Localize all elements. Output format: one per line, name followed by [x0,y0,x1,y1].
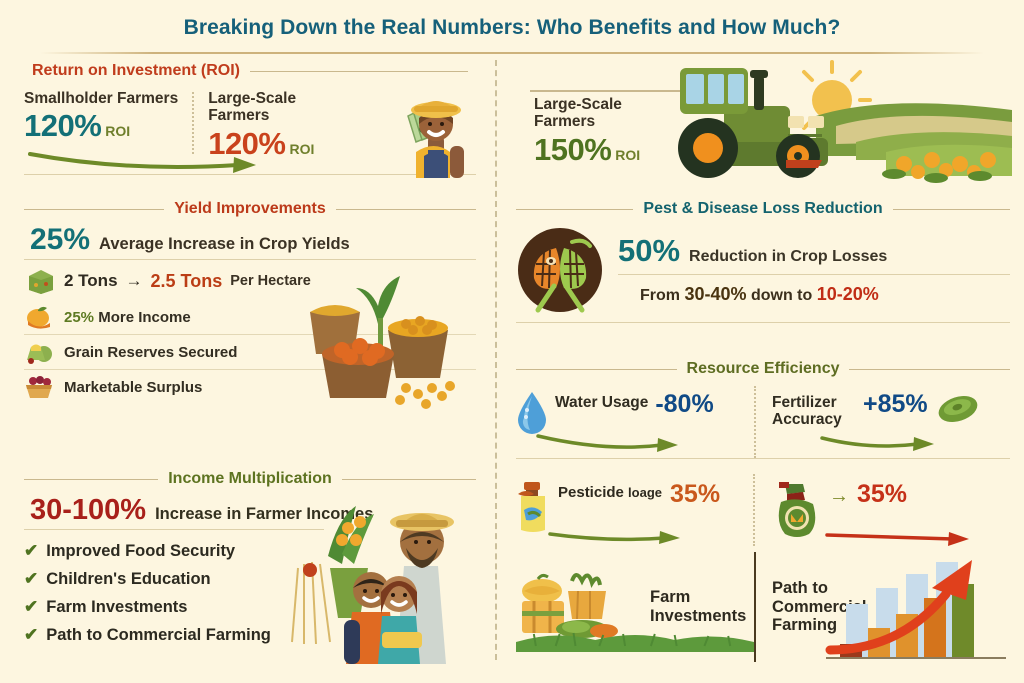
pesticide-left-label-main: Pesticide [558,484,624,501]
roi-right-label: Large-Scale Farmers [534,96,652,131]
income-check-2-label: Farm Investments [46,598,187,617]
income-check-0-label: Improved Food Security [46,542,235,561]
pest-bottom-rule [516,322,1010,323]
pest-heading-label: Pest & Disease Loss Reduction [643,200,882,218]
pest-leaf-badge-icon [516,226,604,314]
path-to-commercial-farming-cell: Path to Commercial Farming [754,552,1010,662]
pesticide-left-label: Pesticide loage [558,480,662,501]
pesticide-right-arrow-icon [825,530,975,546]
roi-heading: Return on Investment (ROI) [24,62,476,80]
pest-from-value: 30-40% [684,284,746,304]
column-divider [495,60,497,660]
resource-item-water: Water Usage -80% [516,386,754,458]
yield-headline-text: Average Increase in Crop Yields [99,235,350,254]
roi-heading-label: Return on Investment (ROI) [32,62,240,80]
resource-fertilizer-arrow-icon [820,432,940,452]
resource-water-arrow-icon [536,432,686,452]
pest-heading: Pest & Disease Loss Reduction [516,200,1010,218]
pesticide-right-value: 35% [857,480,907,507]
resource-fertilizer-label: Fertilizer Accuracy [772,390,856,428]
resource-water-value: -80% [655,390,713,417]
roi-item-smallholder: Smallholder Farmers 120% ROI [24,86,178,141]
pesticide-grid: Pesticide loage 35% → 35% [516,474,1010,546]
income-rule [24,529,324,530]
roi-smallholder-suffix: ROI [105,124,130,138]
roi-smallholder-label: Smallholder Farmers [24,90,178,107]
heading-rule-right [849,369,1010,370]
heading-rule [250,71,468,72]
check-icon: ✔ [24,569,38,589]
pest-from-row: From 30-40% down to 10-20% [618,284,1010,305]
bottom-right-panel: Farm Investments Path to Commercial Farm… [516,552,1010,672]
resource-bottom-rule [516,458,1010,459]
farm-investments-cell: Farm Investments [516,552,754,662]
tractor-and-field-icon [636,60,1012,188]
pest-body: 50% Reduction in Crop Losses From 30-40%… [516,226,1010,314]
pesticide-bottle-icon [516,480,550,534]
roi-flow-arrow-icon [28,148,278,172]
yield-tons-from: 2 Tons [64,271,118,291]
yield-heading: Yield Improvements [24,200,476,218]
farmer-family-icon [286,494,486,664]
income-check-1-label: Children's Education [46,570,210,589]
pest-headline-value: 50% [618,235,680,266]
roi-largescale-label: Large-Scale Farmers [208,90,318,125]
roi-smallholder-value-group: 120% ROI [24,110,178,141]
roi-right-text: Large-Scale Farmers 150% ROI [534,96,652,165]
pest-headline: 50% Reduction in Crop Losses [618,235,1010,266]
pest-headline-text: Reduction in Crop Losses [689,248,887,266]
resource-panel: Resource Efficiency Water Usage -80% Fer… [516,360,1010,490]
heading-rule-left [516,209,633,210]
farm-investments-label: Farm Investments [650,588,754,626]
heading-rule-right [336,209,476,210]
income-panel: Income Multiplication 30-100% Increase i… [24,470,476,666]
check-icon: ✔ [24,597,38,617]
fertilizer-pellet-icon [935,394,981,424]
yield-heading-label: Yield Improvements [174,200,325,218]
pest-text: 50% Reduction in Crop Losses From 30-40%… [618,235,1010,305]
roi-right-value: 150% [534,134,611,165]
pest-panel: Pest & Disease Loss Reduction [516,200,1010,350]
yield-item-0-value: 25% [64,309,94,326]
roi-right-value-group: 150% ROI [534,134,652,165]
pesticide-left-label-small: loage [628,485,662,500]
title-divider [40,52,984,54]
income-headline-value: 30-100% [30,496,146,525]
income-check-3-label: Path to Commercial Farming [46,626,271,645]
resource-grid: Water Usage -80% Fertilizer Accuracy +85… [516,386,1010,458]
page-title: Breaking Down the Real Numbers: Who Bene… [0,16,1024,40]
resource-item-fertilizer: Fertilizer Accuracy +85% [754,386,1010,458]
pesticide-left-arrow-icon [548,528,688,544]
resource-heading-label: Resource Efficiency [687,360,840,378]
growth-bar-chart-icon [820,558,1010,666]
yield-tons-to: 2.5 Tons [151,271,223,292]
yield-item-1-label: Grain Reserves Secured [64,344,237,361]
pest-from-prefix: From [640,287,680,304]
heading-rule-left [24,479,158,480]
water-drop-icon [516,390,548,434]
yield-headline-value: 25% [30,225,90,255]
heading-rule-left [516,369,677,370]
fruit-basket-icon [24,375,54,399]
roi-smallholder-value: 120% [24,110,101,141]
yield-headline: 25% Average Increase in Crop Yields [30,225,476,255]
pesticide-item-right: → 35% [753,474,1010,546]
infographic-page: Breaking Down the Real Numbers: Who Bene… [0,0,1024,683]
pest-to-value: 10-20% [817,284,879,304]
check-icon: ✔ [24,541,38,561]
check-icon: ✔ [24,625,38,645]
roi-separator [192,92,194,154]
spray-bottle-icon [773,480,821,540]
mango-icon [24,305,54,329]
pesticide-left-value: 35% [670,480,720,507]
pesticide-right-prefix: → [829,480,849,508]
roi-largescale-suffix: ROI [290,142,315,156]
yield-panel: Yield Improvements 25% Average Increase … [24,200,476,458]
list-item-label: 25% More Income [64,309,191,326]
pest-mid-text: down to [751,287,812,304]
pesticide-item-left: Pesticide loage 35% [516,474,753,546]
yield-item-0-label: More Income [98,309,191,326]
heading-rule-left [24,209,164,210]
heading-rule-right [893,209,1010,210]
bottom-right-grid: Farm Investments Path to Commercial Farm… [516,552,1010,662]
roi-right-panel: Large-Scale Farmers 150% ROI [516,62,1010,190]
heading-rule-right [342,479,476,480]
yield-item-2-label: Marketable Surplus [64,379,202,396]
grain-baskets-icon [282,258,482,418]
pesticide-panel: Pesticide loage 35% → 35% [516,474,1010,550]
income-heading-label: Income Multiplication [168,470,332,488]
pest-rule [618,274,1010,275]
grass-icon [516,626,754,652]
roi-left-panel: Return on Investment (ROI) Smallholder F… [24,62,476,190]
resource-fertilizer-value: +85% [863,390,928,417]
grain-sack-icon [24,340,54,364]
yield-tons-arrow: → [126,271,143,291]
resource-water-label: Water Usage [555,390,648,411]
resource-heading: Resource Efficiency [516,360,1010,378]
roi-row: Smallholder Farmers 120% ROI Large-Scale… [24,86,476,174]
farmer-with-cash-icon [324,82,474,178]
crate-icon [26,268,56,294]
income-heading: Income Multiplication [24,470,476,488]
